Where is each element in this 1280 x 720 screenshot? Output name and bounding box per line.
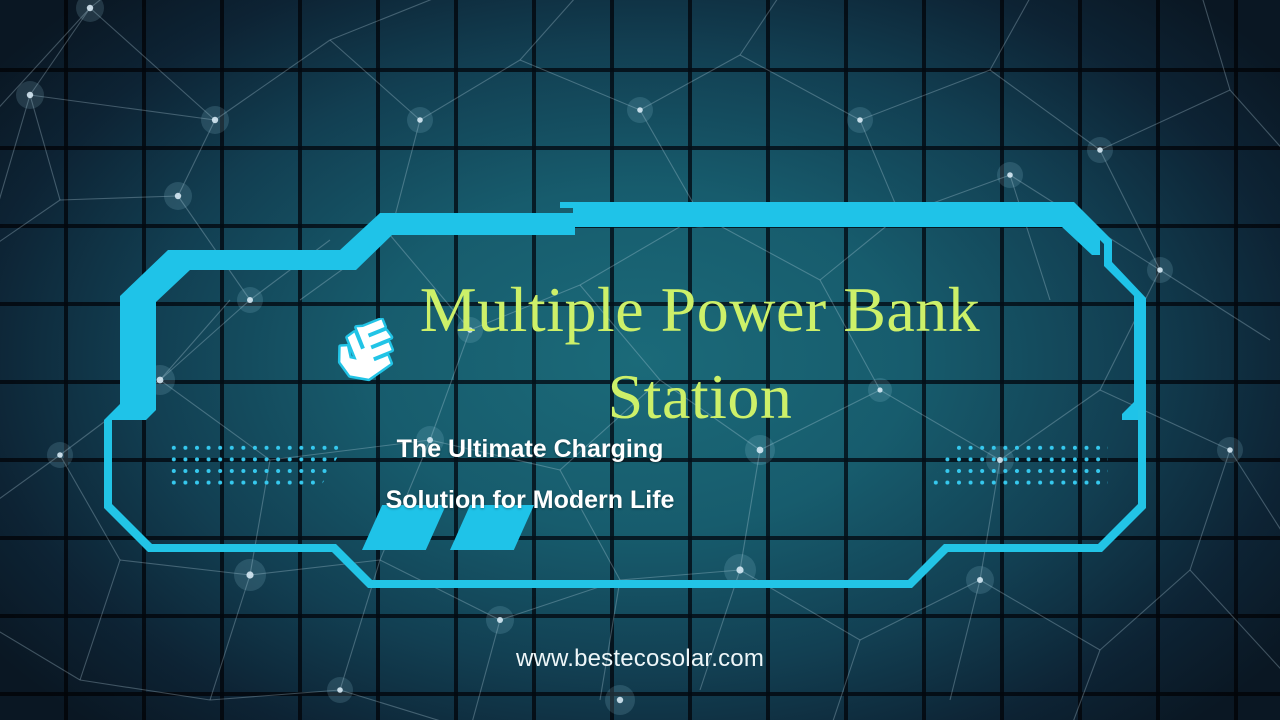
text-layer: Multiple Power Bank Station The Ultimate… xyxy=(0,0,1280,720)
slide-canvas: Multiple Power Bank Station The Ultimate… xyxy=(0,0,1280,720)
page-subtitle: The Ultimate Charging Solution for Moder… xyxy=(300,424,760,527)
website-url: www.bestecosolar.com xyxy=(0,645,1280,673)
page-title: Multiple Power Bank Station xyxy=(300,266,1100,440)
